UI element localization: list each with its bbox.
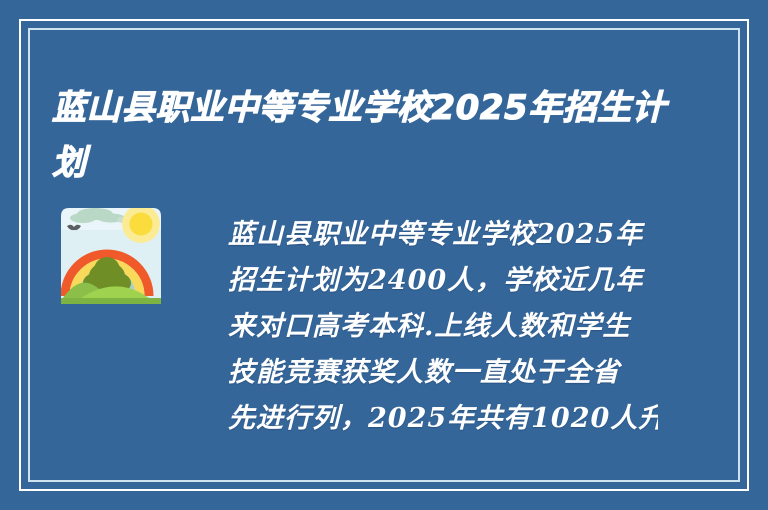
poster-canvas: 蓝山县职业中等专业学校2025年招生计划 [0, 0, 768, 510]
body-line: 先进行列，2025年共有1020人升 [228, 396, 658, 442]
body-line: 蓝山县职业中等专业学校2025年 [228, 212, 658, 258]
sun-icon [122, 205, 160, 243]
landscape-rainbow-illustration [55, 200, 167, 312]
body-text: 蓝山县职业中等专业学校2025年 招生计划为2400人，学校近几年 来对口高考本… [228, 212, 658, 442]
page-title: 蓝山县职业中等专业学校2025年招生计划 [52, 81, 692, 191]
ground-strip [59, 298, 163, 305]
body-line: 招生计划为2400人，学校近几年 [228, 258, 658, 304]
body-line: 技能竞赛获奖人数一直处于全省 [228, 350, 658, 396]
body-line: 来对口高考本科.上线人数和学生 [228, 304, 658, 350]
